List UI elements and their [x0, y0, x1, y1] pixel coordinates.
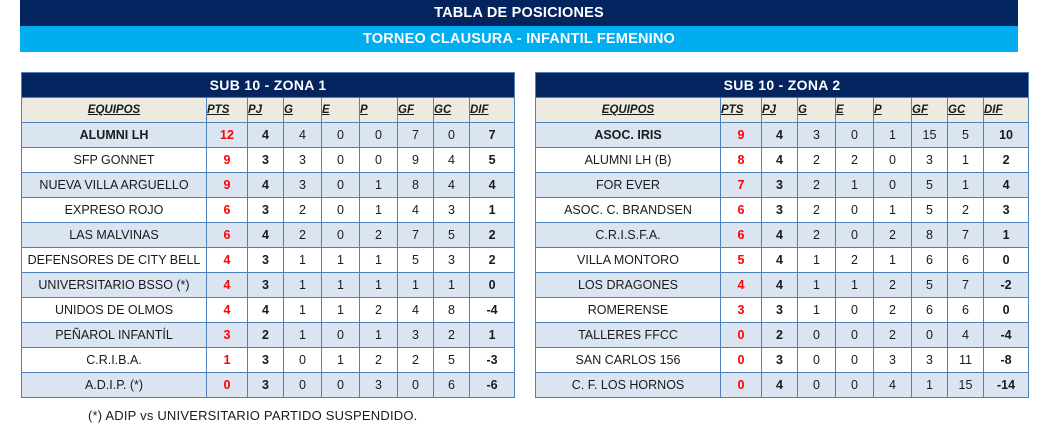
- cell-gf: 1: [912, 373, 948, 398]
- cell-pj: 4: [762, 223, 798, 248]
- cell-g: 2: [798, 198, 836, 223]
- cell-pts: 1: [207, 348, 248, 373]
- cell-dif: 10: [984, 123, 1029, 148]
- cell-g: 1: [798, 248, 836, 273]
- cell-gc: 5: [948, 123, 984, 148]
- cell-pj: 3: [762, 198, 798, 223]
- team-name: DEFENSORES DE CITY BELL: [22, 248, 207, 273]
- team-name: ROMERENSE: [536, 298, 721, 323]
- table-row: SFP GONNET 9 3 3 0 0 9 4 5: [22, 148, 515, 173]
- cell-pts: 0: [721, 323, 762, 348]
- column-header-g: G: [798, 98, 836, 123]
- cell-pj: 4: [248, 123, 284, 148]
- cell-pj: 4: [248, 173, 284, 198]
- cell-pj: 3: [248, 348, 284, 373]
- cell-g: 1: [284, 248, 322, 273]
- team-name: ASOC. C. BRANDSEN: [536, 198, 721, 223]
- cell-e: 0: [836, 348, 874, 373]
- cell-pj: 4: [762, 148, 798, 173]
- team-name: TALLERES FFCC: [536, 323, 721, 348]
- cell-g: 1: [284, 323, 322, 348]
- cell-g: 0: [798, 323, 836, 348]
- table-row: LAS MALVINAS 6 4 2 0 2 7 5 2: [22, 223, 515, 248]
- table-row: FOR EVER 7 3 2 1 0 5 1 4: [536, 173, 1029, 198]
- banner-title: TABLA DE POSICIONES: [20, 0, 1018, 26]
- table-row: TALLERES FFCC 0 2 0 0 2 0 4 -4: [536, 323, 1029, 348]
- table-row: ASOC. IRIS 9 4 3 0 1 15 5 10: [536, 123, 1029, 148]
- cell-dif: 3: [984, 198, 1029, 223]
- cell-p: 1: [874, 248, 912, 273]
- cell-g: 0: [284, 373, 322, 398]
- cell-gc: 1: [948, 148, 984, 173]
- cell-g: 1: [798, 273, 836, 298]
- team-name: UNIVERSITARIO BSSO (*): [22, 273, 207, 298]
- cell-g: 0: [798, 348, 836, 373]
- column-header-e: E: [322, 98, 360, 123]
- cell-g: 1: [284, 298, 322, 323]
- cell-g: 2: [798, 173, 836, 198]
- cell-gf: 5: [912, 273, 948, 298]
- standings-table-zona-2: SUB 10 - ZONA 2 EQUIPOS PTS PJ G E P GF …: [535, 72, 1029, 398]
- column-header-pj: PJ: [248, 98, 284, 123]
- cell-p: 2: [874, 273, 912, 298]
- page-banner: TABLA DE POSICIONES TORNEO CLAUSURA - IN…: [20, 0, 1018, 52]
- cell-gf: 5: [912, 173, 948, 198]
- cell-p: 2: [874, 223, 912, 248]
- cell-dif: 0: [470, 273, 515, 298]
- cell-e: 0: [836, 373, 874, 398]
- cell-pj: 3: [248, 148, 284, 173]
- team-name: C.R.I.B.A.: [22, 348, 207, 373]
- cell-pj: 2: [248, 323, 284, 348]
- cell-g: 3: [284, 173, 322, 198]
- cell-gc: 8: [434, 298, 470, 323]
- cell-gc: 15: [948, 373, 984, 398]
- cell-e: 1: [322, 248, 360, 273]
- cell-e: 2: [836, 148, 874, 173]
- cell-gc: 1: [434, 273, 470, 298]
- table-header-row: EQUIPOS PTS PJ G E P GF GC DIF: [536, 98, 1029, 123]
- cell-gf: 2: [398, 348, 434, 373]
- cell-gf: 1: [398, 273, 434, 298]
- cell-pj: 2: [762, 323, 798, 348]
- cell-pts: 6: [721, 223, 762, 248]
- banner-subtitle: TORNEO CLAUSURA - INFANTIL FEMENINO: [20, 26, 1018, 52]
- team-name: A.D.I.P. (*): [22, 373, 207, 398]
- team-name: LAS MALVINAS: [22, 223, 207, 248]
- cell-p: 0: [874, 148, 912, 173]
- cell-gc: 0: [434, 123, 470, 148]
- cell-p: 1: [360, 248, 398, 273]
- cell-pj: 3: [248, 198, 284, 223]
- team-name: C.R.I.S.F.A.: [536, 223, 721, 248]
- cell-gf: 4: [398, 198, 434, 223]
- cell-pts: 12: [207, 123, 248, 148]
- cell-p: 1: [874, 198, 912, 223]
- column-header-p: P: [874, 98, 912, 123]
- cell-g: 4: [284, 123, 322, 148]
- cell-p: 2: [360, 298, 398, 323]
- cell-gf: 3: [398, 323, 434, 348]
- cell-pj: 3: [762, 173, 798, 198]
- cell-p: 2: [874, 298, 912, 323]
- cell-p: 1: [360, 173, 398, 198]
- table-row: A.D.I.P. (*) 0 3 0 0 3 0 6 -6: [22, 373, 515, 398]
- table-row: ALUMNI LH (B) 8 4 2 2 0 3 1 2: [536, 148, 1029, 173]
- team-name: SFP GONNET: [22, 148, 207, 173]
- team-name: NUEVA VILLA ARGUELLO: [22, 173, 207, 198]
- cell-e: 2: [836, 248, 874, 273]
- cell-dif: 5: [470, 148, 515, 173]
- cell-pts: 9: [207, 148, 248, 173]
- cell-dif: -4: [470, 298, 515, 323]
- cell-pts: 0: [721, 373, 762, 398]
- cell-gc: 2: [948, 198, 984, 223]
- zone-title: SUB 10 - ZONA 1: [22, 73, 515, 98]
- cell-gf: 7: [398, 123, 434, 148]
- cell-dif: 0: [984, 248, 1029, 273]
- cell-gc: 3: [434, 198, 470, 223]
- table-title-row: SUB 10 - ZONA 1: [22, 73, 515, 98]
- cell-e: 1: [322, 348, 360, 373]
- column-header-gf: GF: [912, 98, 948, 123]
- cell-gf: 0: [912, 323, 948, 348]
- table-row: ALUMNI LH 12 4 4 0 0 7 0 7: [22, 123, 515, 148]
- cell-p: 1: [874, 123, 912, 148]
- cell-e: 0: [836, 198, 874, 223]
- column-header-equipos: EQUIPOS: [536, 98, 721, 123]
- cell-g: 1: [284, 273, 322, 298]
- column-header-gc: GC: [434, 98, 470, 123]
- cell-pts: 4: [721, 273, 762, 298]
- cell-p: 0: [360, 123, 398, 148]
- column-header-pts: PTS: [721, 98, 762, 123]
- cell-e: 0: [322, 223, 360, 248]
- cell-gf: 9: [398, 148, 434, 173]
- cell-g: 3: [798, 123, 836, 148]
- cell-dif: -4: [984, 323, 1029, 348]
- table-row: SAN CARLOS 156 0 3 0 0 3 3 11 -8: [536, 348, 1029, 373]
- cell-p: 1: [360, 198, 398, 223]
- cell-pts: 6: [721, 198, 762, 223]
- cell-gc: 6: [948, 248, 984, 273]
- cell-gc: 5: [434, 348, 470, 373]
- cell-pts: 6: [207, 198, 248, 223]
- cell-gf: 5: [912, 198, 948, 223]
- cell-pj: 4: [762, 248, 798, 273]
- cell-pj: 4: [762, 273, 798, 298]
- team-name: C. F. LOS HORNOS: [536, 373, 721, 398]
- cell-e: 0: [322, 323, 360, 348]
- cell-e: 0: [322, 198, 360, 223]
- cell-pts: 4: [207, 273, 248, 298]
- cell-gf: 0: [398, 373, 434, 398]
- cell-e: 0: [836, 323, 874, 348]
- team-name: EXPRESO ROJO: [22, 198, 207, 223]
- cell-g: 0: [798, 373, 836, 398]
- cell-e: 0: [836, 298, 874, 323]
- cell-pts: 7: [721, 173, 762, 198]
- column-header-pts: PTS: [207, 98, 248, 123]
- cell-gc: 1: [948, 173, 984, 198]
- team-name: LOS DRAGONES: [536, 273, 721, 298]
- cell-dif: -3: [470, 348, 515, 373]
- cell-pj: 4: [762, 373, 798, 398]
- column-header-e: E: [836, 98, 874, 123]
- cell-p: 2: [360, 223, 398, 248]
- cell-e: 0: [322, 173, 360, 198]
- column-header-dif: DIF: [470, 98, 515, 123]
- cell-dif: 2: [984, 148, 1029, 173]
- column-header-p: P: [360, 98, 398, 123]
- cell-e: 0: [322, 123, 360, 148]
- table-row: C.R.I.S.F.A. 6 4 2 0 2 8 7 1: [536, 223, 1029, 248]
- cell-gf: 4: [398, 298, 434, 323]
- cell-pts: 0: [207, 373, 248, 398]
- cell-g: 1: [798, 298, 836, 323]
- team-name: SAN CARLOS 156: [536, 348, 721, 373]
- cell-pts: 3: [207, 323, 248, 348]
- cell-gc: 4: [434, 173, 470, 198]
- cell-e: 0: [836, 123, 874, 148]
- table-row: PEÑAROL INFANTÍL 3 2 1 0 1 3 2 1: [22, 323, 515, 348]
- cell-gc: 2: [434, 323, 470, 348]
- cell-gf: 6: [912, 248, 948, 273]
- cell-pj: 3: [248, 373, 284, 398]
- cell-dif: 4: [470, 173, 515, 198]
- cell-gc: 6: [434, 373, 470, 398]
- cell-e: 0: [836, 223, 874, 248]
- team-name: VILLA MONTORO: [536, 248, 721, 273]
- column-header-equipos: EQUIPOS: [22, 98, 207, 123]
- table-row: NUEVA VILLA ARGUELLO 9 4 3 0 1 8 4 4: [22, 173, 515, 198]
- table-row: LOS DRAGONES 4 4 1 1 2 5 7 -2: [536, 273, 1029, 298]
- cell-gc: 5: [434, 223, 470, 248]
- cell-pts: 4: [207, 248, 248, 273]
- cell-pts: 6: [207, 223, 248, 248]
- table-title-row: SUB 10 - ZONA 2: [536, 73, 1029, 98]
- cell-dif: 4: [984, 173, 1029, 198]
- cell-gf: 6: [912, 298, 948, 323]
- cell-pj: 3: [762, 348, 798, 373]
- cell-pts: 0: [721, 348, 762, 373]
- cell-g: 0: [284, 348, 322, 373]
- cell-dif: 2: [470, 248, 515, 273]
- team-name: ASOC. IRIS: [536, 123, 721, 148]
- cell-dif: 0: [984, 298, 1029, 323]
- cell-gf: 15: [912, 123, 948, 148]
- table-row: ROMERENSE 3 3 1 0 2 6 6 0: [536, 298, 1029, 323]
- cell-gc: 3: [434, 248, 470, 273]
- cell-pj: 4: [762, 123, 798, 148]
- cell-g: 2: [798, 223, 836, 248]
- table-header-row: EQUIPOS PTS PJ G E P GF GC DIF: [22, 98, 515, 123]
- cell-gf: 3: [912, 148, 948, 173]
- team-name: ALUMNI LH (B): [536, 148, 721, 173]
- cell-dif: 1: [984, 223, 1029, 248]
- team-name: ALUMNI LH: [22, 123, 207, 148]
- team-name: UNIDOS DE OLMOS: [22, 298, 207, 323]
- table-row: EXPRESO ROJO 6 3 2 0 1 4 3 1: [22, 198, 515, 223]
- cell-dif: -2: [984, 273, 1029, 298]
- cell-gf: 8: [912, 223, 948, 248]
- cell-e: 1: [322, 298, 360, 323]
- cell-dif: -14: [984, 373, 1029, 398]
- cell-dif: -6: [470, 373, 515, 398]
- column-header-gc: GC: [948, 98, 984, 123]
- cell-e: 1: [322, 273, 360, 298]
- cell-pj: 3: [762, 298, 798, 323]
- table-row: UNIVERSITARIO BSSO (*) 4 3 1 1 1 1 1 0: [22, 273, 515, 298]
- cell-e: 0: [322, 148, 360, 173]
- column-header-dif: DIF: [984, 98, 1029, 123]
- zone-title: SUB 10 - ZONA 2: [536, 73, 1029, 98]
- cell-pts: 8: [721, 148, 762, 173]
- cell-gf: 7: [398, 223, 434, 248]
- cell-p: 1: [360, 273, 398, 298]
- column-header-gf: GF: [398, 98, 434, 123]
- table-row: DEFENSORES DE CITY BELL 4 3 1 1 1 5 3 2: [22, 248, 515, 273]
- cell-pts: 9: [207, 173, 248, 198]
- footnote-text: (*) ADIP vs UNIVERSITARIO PARTIDO SUSPEN…: [88, 408, 417, 423]
- cell-pj: 4: [248, 223, 284, 248]
- cell-pts: 3: [721, 298, 762, 323]
- standings-table-zona-1: SUB 10 - ZONA 1 EQUIPOS PTS PJ G E P GF …: [21, 72, 515, 398]
- cell-gf: 5: [398, 248, 434, 273]
- cell-pj: 3: [248, 248, 284, 273]
- cell-gc: 4: [434, 148, 470, 173]
- cell-p: 3: [360, 373, 398, 398]
- cell-g: 2: [798, 148, 836, 173]
- cell-gc: 7: [948, 273, 984, 298]
- table-row: ASOC. C. BRANDSEN 6 3 2 0 1 5 2 3: [536, 198, 1029, 223]
- cell-e: 1: [836, 173, 874, 198]
- team-name: FOR EVER: [536, 173, 721, 198]
- table-row: C. F. LOS HORNOS 0 4 0 0 4 1 15 -14: [536, 373, 1029, 398]
- cell-g: 3: [284, 148, 322, 173]
- cell-pts: 4: [207, 298, 248, 323]
- table-row: UNIDOS DE OLMOS 4 4 1 1 2 4 8 -4: [22, 298, 515, 323]
- cell-dif: 1: [470, 323, 515, 348]
- table-row: C.R.I.B.A. 1 3 0 1 2 2 5 -3: [22, 348, 515, 373]
- team-name: PEÑAROL INFANTÍL: [22, 323, 207, 348]
- column-header-pj: PJ: [762, 98, 798, 123]
- cell-p: 4: [874, 373, 912, 398]
- cell-gc: 4: [948, 323, 984, 348]
- cell-p: 2: [874, 323, 912, 348]
- cell-gc: 6: [948, 298, 984, 323]
- cell-dif: -8: [984, 348, 1029, 373]
- cell-e: 0: [322, 373, 360, 398]
- cell-p: 0: [874, 173, 912, 198]
- cell-p: 0: [360, 148, 398, 173]
- cell-g: 2: [284, 198, 322, 223]
- cell-e: 1: [836, 273, 874, 298]
- cell-p: 2: [360, 348, 398, 373]
- cell-dif: 1: [470, 198, 515, 223]
- cell-g: 2: [284, 223, 322, 248]
- cell-pj: 4: [248, 298, 284, 323]
- cell-pj: 3: [248, 273, 284, 298]
- cell-p: 1: [360, 323, 398, 348]
- cell-pts: 5: [721, 248, 762, 273]
- cell-p: 3: [874, 348, 912, 373]
- cell-pts: 9: [721, 123, 762, 148]
- cell-gf: 8: [398, 173, 434, 198]
- cell-gf: 3: [912, 348, 948, 373]
- cell-gc: 7: [948, 223, 984, 248]
- table-row: VILLA MONTORO 5 4 1 2 1 6 6 0: [536, 248, 1029, 273]
- cell-gc: 11: [948, 348, 984, 373]
- column-header-g: G: [284, 98, 322, 123]
- cell-dif: 7: [470, 123, 515, 148]
- cell-dif: 2: [470, 223, 515, 248]
